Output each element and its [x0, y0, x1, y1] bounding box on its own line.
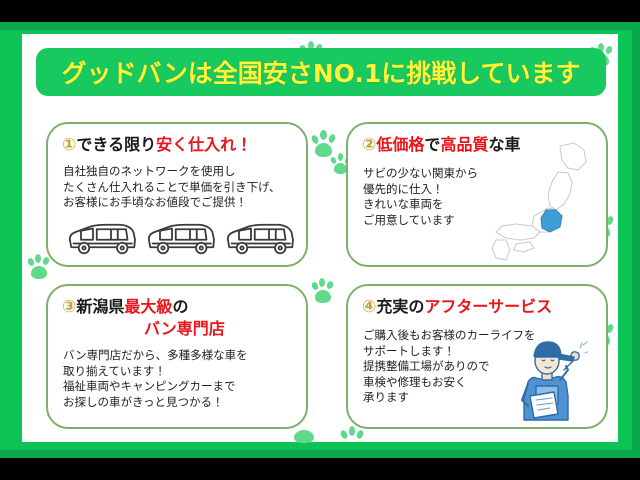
- feature-number-3: ③: [62, 297, 76, 317]
- body-line: バン専門店だから、多種多様な車を: [63, 348, 248, 364]
- feature-card-1-heading-black: できる限り: [76, 135, 156, 154]
- headline-text: グッドバンは全国安さNO.1に挑戦しています: [61, 54, 580, 90]
- body-line: 福祉車両やキャンピングカーまで: [63, 379, 248, 395]
- feature-card-3-body: バン専門店だから、多種多様な車を 取り揃えています！ 福祉車両やキャンピングカー…: [63, 348, 248, 410]
- feature-card-4-heading: ④充実のアフターサービス: [362, 297, 552, 317]
- feature-card-4-heading-red: アフターサービス: [424, 297, 552, 316]
- feature-card-2-body: サビの少ない関東から 優先的に仕入！ きれいな車両を ご用意しています: [363, 166, 478, 228]
- feature-number-4: ④: [362, 297, 376, 317]
- feature-card-4: ④充実のアフターサービス ご購入後もお客様のカーライフを サポートします！ 提携…: [346, 284, 608, 429]
- feature-card-3: ③新潟県最大級の バン専門店 バン専門店だから、多種多様な車を 取り揃えています…: [46, 284, 308, 429]
- mechanic-illustration: [510, 334, 588, 426]
- van-icon: [145, 220, 217, 258]
- feature-card-3-heading-red: 最大級: [124, 297, 172, 316]
- feature-card-3-heading-tail: の: [172, 297, 188, 316]
- headline-banner: グッドバンは全国安さNO.1に挑戦しています: [36, 48, 606, 96]
- feature-card-1-body: 自社独自のネットワークを使用し たくさん仕入れることで単価を引き下げ、 お客様に…: [63, 164, 280, 211]
- body-line: 自社独自のネットワークを使用し: [63, 164, 280, 180]
- feature-number-2: ②: [362, 135, 376, 155]
- kanto-region-highlight: [541, 210, 562, 232]
- japan-map-illustration: [488, 140, 600, 264]
- body-line: お探しの車がきっと見つかる！: [63, 395, 248, 411]
- body-line: ご用意しています: [363, 213, 478, 229]
- feature-number-1: ①: [62, 135, 76, 155]
- van-icon: [66, 220, 138, 258]
- van-icon: [224, 220, 296, 258]
- feature-card-2-heading-mid: で: [424, 135, 440, 154]
- feature-card-3-heading: ③新潟県最大級の: [62, 297, 188, 317]
- feature-card-2-heading-red2: 高品質: [440, 135, 488, 154]
- poster-root: グッドバンは全国安さNO.1に挑戦しています ①できる限り安く仕入れ！ 自社独自…: [0, 0, 640, 480]
- body-line: サビの少ない関東から: [363, 166, 478, 182]
- feature-card-1: ①できる限り安く仕入れ！ 自社独自のネットワークを使用し たくさん仕入れることで…: [46, 122, 308, 267]
- feature-card-4-heading-black: 充実の: [376, 297, 424, 316]
- van-illustration-group: [66, 216, 296, 258]
- body-line: たくさん仕入れることで単価を引き下げ、: [63, 180, 280, 196]
- feature-card-1-heading: ①できる限り安く仕入れ！: [62, 135, 252, 155]
- feature-card-1-heading-red: 安く仕入れ！: [156, 135, 252, 154]
- feature-card-3-heading-black: 新潟県: [76, 297, 124, 316]
- feature-card-2: ②低価格で高品質な車 サビの少ない関東から 優先的に仕入！ きれいな車両を ご用…: [346, 122, 608, 267]
- body-line: 優先的に仕入！: [363, 182, 478, 198]
- feature-card-2-heading-red: 低価格: [376, 135, 424, 154]
- body-line: 取り揃えています！: [63, 364, 248, 380]
- body-line: お客様にお手頃なお値段でご提供！: [63, 195, 280, 211]
- body-line: きれいな車両を: [363, 197, 478, 213]
- feature-card-3-heading-line2: バン専門店: [144, 319, 225, 339]
